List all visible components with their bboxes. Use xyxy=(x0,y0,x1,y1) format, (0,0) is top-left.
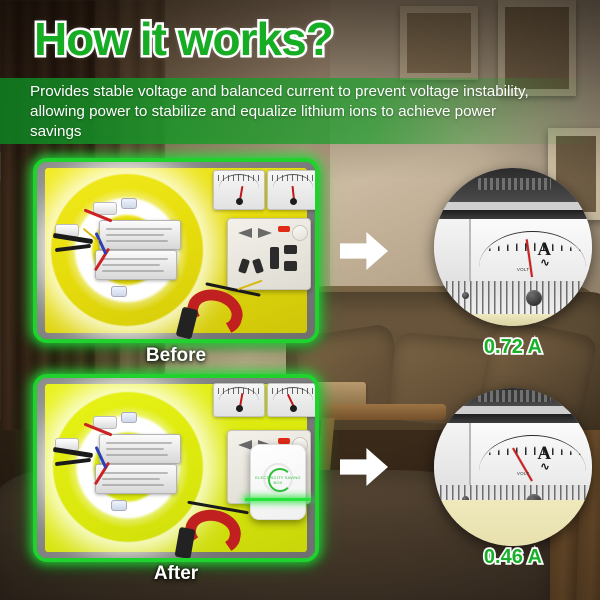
meter-base xyxy=(434,314,592,326)
meter-scale-ticks xyxy=(480,433,584,455)
before-ammeter-closeup[interactable]: A VOLT xyxy=(434,168,592,326)
meter-secondary-gauge xyxy=(434,219,470,281)
meter-top-casing xyxy=(434,388,592,406)
wire-cap xyxy=(111,500,127,511)
page-subtitle: Provides stable voltage and balanced cur… xyxy=(30,82,530,142)
wall-socket xyxy=(227,218,311,290)
meter-terminal-screw xyxy=(526,290,542,306)
energy-saver-device: ELECTRICITY SAVING BOX xyxy=(250,444,306,520)
led-driver-ballast xyxy=(99,220,181,250)
meter-scale-sublabel: VOLT xyxy=(517,471,530,476)
after-photo-panel[interactable]: ELECTRICITY SAVING BOX xyxy=(33,374,319,562)
before-photo-panel[interactable] xyxy=(33,158,319,343)
meter-scale-ticks xyxy=(480,229,584,251)
after-caption: After xyxy=(33,563,319,585)
meter-brand-plate xyxy=(478,178,551,190)
saver-green-glow-line xyxy=(245,498,311,501)
ammeter-panel xyxy=(267,170,319,210)
ammeter-panel xyxy=(267,383,319,417)
before-current-reading: 0.72 A xyxy=(434,336,592,359)
test-rig: ELECTRICITY SAVING BOX xyxy=(37,378,315,558)
after-ammeter-closeup[interactable]: A VOLT xyxy=(434,388,592,546)
saver-logo-text: ELECTRICITY SAVING BOX xyxy=(251,475,305,485)
page-title: How it works? xyxy=(34,12,333,66)
socket-indicator-led xyxy=(278,226,290,232)
meter-dial-face: A VOLT xyxy=(469,423,592,485)
ampere-symbol: A xyxy=(537,239,551,261)
voltmeter-panel xyxy=(213,170,265,210)
infographic-canvas: How it works? Provides stable voltage an… xyxy=(0,0,600,600)
meter-base xyxy=(434,500,592,546)
meter-secondary-gauge xyxy=(434,423,470,485)
meter-dark-strip xyxy=(434,414,592,423)
ampere-symbol: A xyxy=(537,443,551,465)
before-caption: Before xyxy=(33,345,319,367)
meter-dark-strip xyxy=(434,210,592,219)
meter-dial-face: A VOLT xyxy=(469,219,592,281)
meter-brand-plate xyxy=(478,390,551,402)
socket-button xyxy=(292,225,308,241)
after-current-reading: 0.46 A xyxy=(434,546,592,569)
voltmeter-panel xyxy=(213,383,265,417)
test-rig xyxy=(37,162,315,339)
meter-top-casing xyxy=(434,168,592,202)
led-driver-ballast xyxy=(95,464,177,494)
wire-cap xyxy=(121,412,137,423)
led-driver-ballast xyxy=(95,250,177,280)
wire-cap xyxy=(111,286,127,297)
led-driver-ballast xyxy=(99,434,181,464)
meter-scale-sublabel: VOLT xyxy=(517,267,530,272)
wire-cap xyxy=(121,198,137,209)
